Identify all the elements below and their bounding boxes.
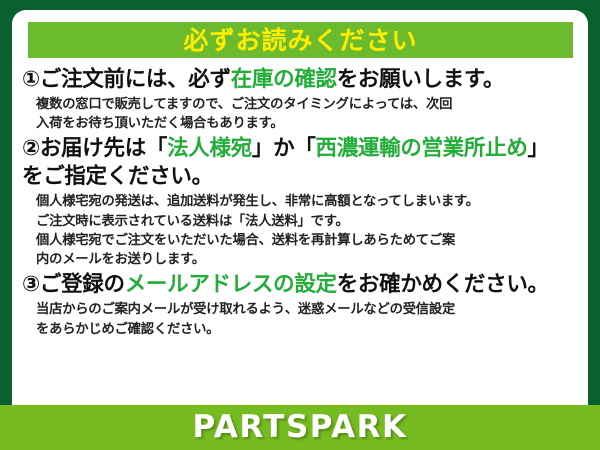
- notice-item-detail: 個人様宅宛の発送は、追加送料が発生し、非常に高額となってしまいます。ご注文時に表…: [22, 192, 580, 269]
- notice-item-heading-line2: をご指定ください。: [22, 163, 580, 191]
- notice-highlight-text: 在庫の確認: [231, 67, 337, 92]
- notice-detail-line: ご注文時に表示されている送料は「法人送料」です。: [36, 212, 580, 231]
- notice-detail-line: 当店からのご案内メールが受け取れるよう、迷惑メールなどの受信設定: [36, 300, 580, 319]
- notice-body: ①ご注文前には、必ず在庫の確認をお願いします。複数の窓口で販売してますので、ご注…: [12, 66, 588, 341]
- notice-item-heading: ②お届け先は「法人様宛」か「西濃運輸の営業所止め」: [22, 135, 580, 163]
- notice-item-marker: ③: [22, 272, 40, 297]
- notice-item-marker: ①: [22, 67, 40, 92]
- notice-item-heading: ①ご注文前には、必ず在庫の確認をお願いします。: [22, 66, 580, 94]
- brand-name: PARTSPARK: [192, 412, 407, 443]
- notice-title-bar: 必ずお読みください: [28, 22, 573, 58]
- notice-banner: 必ずお読みください ①ご注文前には、必ず在庫の確認をお願いします。複数の窓口で販…: [0, 0, 600, 450]
- notice-item-marker: ②: [22, 136, 40, 161]
- brand-footer: PARTSPARK: [0, 405, 600, 450]
- notice-panel: 必ずお読みください ①ご注文前には、必ず在庫の確認をお願いします。複数の窓口で販…: [12, 10, 588, 405]
- notice-heading-text: お届け先は「: [40, 136, 167, 161]
- notice-highlight-text: メールアドレスの設定: [125, 272, 337, 297]
- notice-item-detail: 複数の窓口で販売してますので、ご注文のタイミングによっては、次回入荷をお待ち頂い…: [22, 95, 580, 134]
- notice-title: 必ずお読みください: [183, 28, 417, 53]
- notice-detail-line: 複数の窓口で販売してますので、ご注文のタイミングによっては、次回: [36, 95, 580, 114]
- notice-heading-text: 」か「: [252, 136, 316, 161]
- notice-item: ②お届け先は「法人様宛」か「西濃運輸の営業所止め」をご指定ください。個人様宅宛の…: [22, 135, 580, 269]
- notice-item-detail: 当店からのご案内メールが受け取れるよう、迷惑メールなどの受信設定をあらかじめご確…: [22, 300, 580, 339]
- notice-item: ①ご注文前には、必ず在庫の確認をお願いします。複数の窓口で販売してますので、ご注…: [22, 66, 580, 133]
- notice-detail-line: 内のメールをお送りします。: [36, 250, 580, 269]
- notice-heading-text: をお願いします。: [337, 67, 504, 92]
- notice-detail-line: 入荷をお待ち頂いただく場合もあります。: [36, 114, 580, 133]
- notice-item-heading: ③ご登録のメールアドレスの設定をお確かめください。: [22, 271, 580, 299]
- notice-heading-text: をお確かめください。: [337, 272, 549, 297]
- notice-heading-text: ご登録の: [40, 272, 125, 297]
- notice-detail-line: 個人様宅宛でご注文をいただいた場合、送料を再計算しあらためてご案: [36, 231, 580, 250]
- notice-highlight-text: 法人様宛: [167, 136, 252, 161]
- notice-detail-line: をあらかじめご確認ください。: [36, 320, 580, 339]
- notice-highlight-text: 西濃運輸の営業所止め: [316, 136, 528, 161]
- notice-heading-text: ご注文前には、必ず: [40, 67, 231, 92]
- notice-detail-line: 個人様宅宛の発送は、追加送料が発生し、非常に高額となってしまいます。: [36, 192, 580, 211]
- notice-item: ③ご登録のメールアドレスの設定をお確かめください。当店からのご案内メールが受け取…: [22, 271, 580, 338]
- notice-heading-text: 」: [528, 136, 549, 161]
